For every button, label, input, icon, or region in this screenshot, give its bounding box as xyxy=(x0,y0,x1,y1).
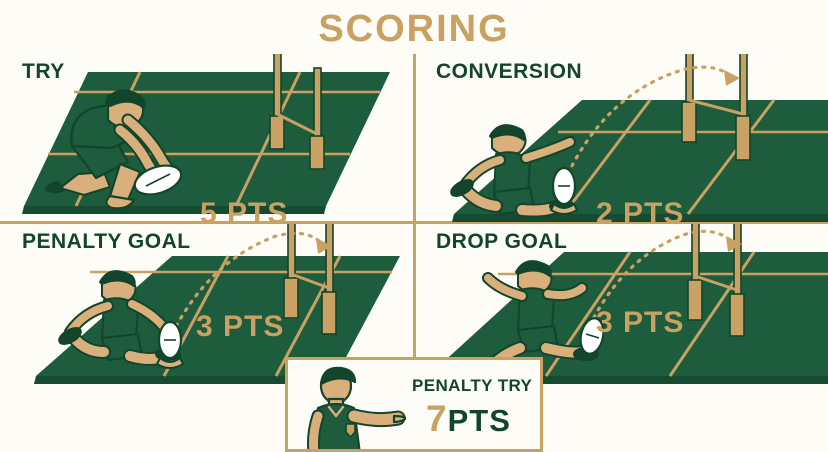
panel-label-drop-goal: DROP GOAL xyxy=(436,230,567,254)
panel-label-try: TRY xyxy=(22,60,65,84)
badge-points-unit: PTS xyxy=(448,403,511,438)
infographic-canvas: SCORING TRY xyxy=(0,0,828,452)
points-penalty-goal: 3 PTS xyxy=(196,310,284,344)
page-title: SCORING xyxy=(0,8,828,51)
badge-points-number: 7 xyxy=(426,398,448,439)
rugby-ball-on-tee xyxy=(157,322,183,368)
rugby-ball-on-tee xyxy=(551,168,577,214)
badge-points: 7PTS xyxy=(426,398,511,440)
panel-try[interactable]: TRY xyxy=(0,54,414,224)
figure-referee-pointing xyxy=(296,366,406,452)
penalty-try-badge[interactable]: PENALTY TRY 7PTS xyxy=(285,357,543,452)
badge-label: PENALTY TRY xyxy=(412,376,532,396)
points-try: 5 PTS xyxy=(200,197,288,231)
points-drop-goal: 3 PTS xyxy=(596,306,684,340)
points-conversion: 2 PTS xyxy=(596,197,684,231)
panel-label-conversion: CONVERSION xyxy=(436,60,582,84)
trajectory-arrow xyxy=(724,70,740,86)
panel-label-penalty-goal: PENALTY GOAL xyxy=(22,230,191,254)
panel-conversion[interactable]: CONVERSION xyxy=(414,54,828,224)
